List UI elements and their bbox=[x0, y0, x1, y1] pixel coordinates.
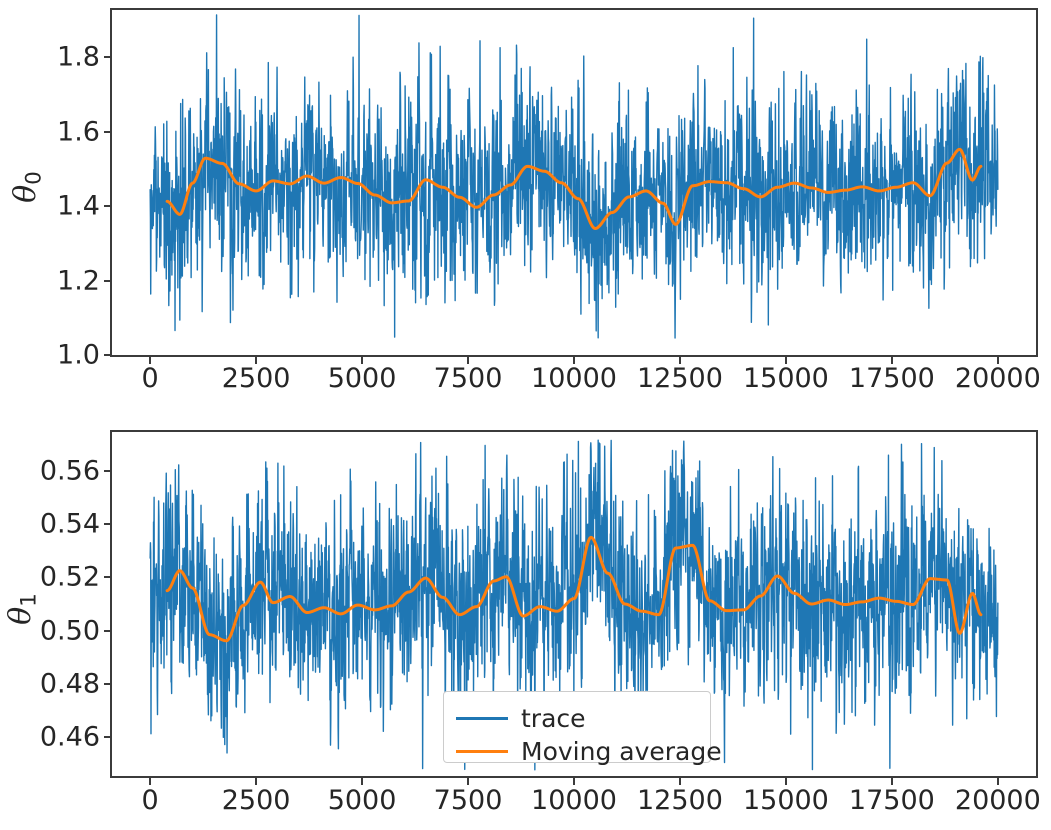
x-tick-mark bbox=[891, 778, 893, 785]
figure-canvas: θ0 1.01.21.41.61.8 025005000750010000125… bbox=[0, 0, 1051, 830]
x-tick-mark bbox=[361, 778, 363, 785]
y-tick-label: 0.52 bbox=[0, 564, 100, 591]
x-tick-mark bbox=[997, 778, 999, 785]
x-tick-mark bbox=[785, 778, 787, 785]
x-tick-label: 0 bbox=[142, 787, 159, 814]
x-tick-mark bbox=[679, 778, 681, 785]
x-tick-label: 20000 bbox=[955, 787, 1041, 814]
x-tick-mark bbox=[467, 778, 469, 785]
y-tick-label: 0.48 bbox=[0, 671, 100, 698]
x-tick-label: 10000 bbox=[531, 787, 617, 814]
y-tick-label: 0.50 bbox=[0, 617, 100, 644]
x-tick-label: 15000 bbox=[743, 787, 829, 814]
y-tick-label: 0.56 bbox=[0, 457, 100, 484]
legend-item-trace[interactable]: trace bbox=[456, 702, 696, 735]
y-tick-label: 0.46 bbox=[0, 724, 100, 751]
x-tick-mark bbox=[149, 778, 151, 785]
y-axis-label-theta1-subscript: 1 bbox=[16, 593, 41, 607]
legend[interactable]: trace Moving average bbox=[443, 691, 711, 763]
legend-label-moving-average: Moving average bbox=[521, 739, 722, 764]
x-tick-label: 17500 bbox=[849, 787, 935, 814]
y-tick-label: 0.54 bbox=[0, 511, 100, 538]
x-tick-label: 5000 bbox=[328, 787, 397, 814]
x-tick-mark bbox=[573, 778, 575, 785]
chart-panel-theta1: θ1 0.460.480.500.520.540.56 025005000750… bbox=[0, 0, 1051, 830]
x-tick-mark bbox=[255, 778, 257, 785]
x-tick-label: 12500 bbox=[637, 787, 723, 814]
legend-swatch-trace bbox=[456, 717, 508, 720]
x-tick-label: 7500 bbox=[434, 787, 503, 814]
legend-swatch-moving-average bbox=[456, 750, 508, 753]
legend-label-trace: trace bbox=[521, 706, 586, 731]
legend-item-moving-average[interactable]: Moving average bbox=[456, 735, 696, 768]
x-tick-label: 2500 bbox=[222, 787, 291, 814]
